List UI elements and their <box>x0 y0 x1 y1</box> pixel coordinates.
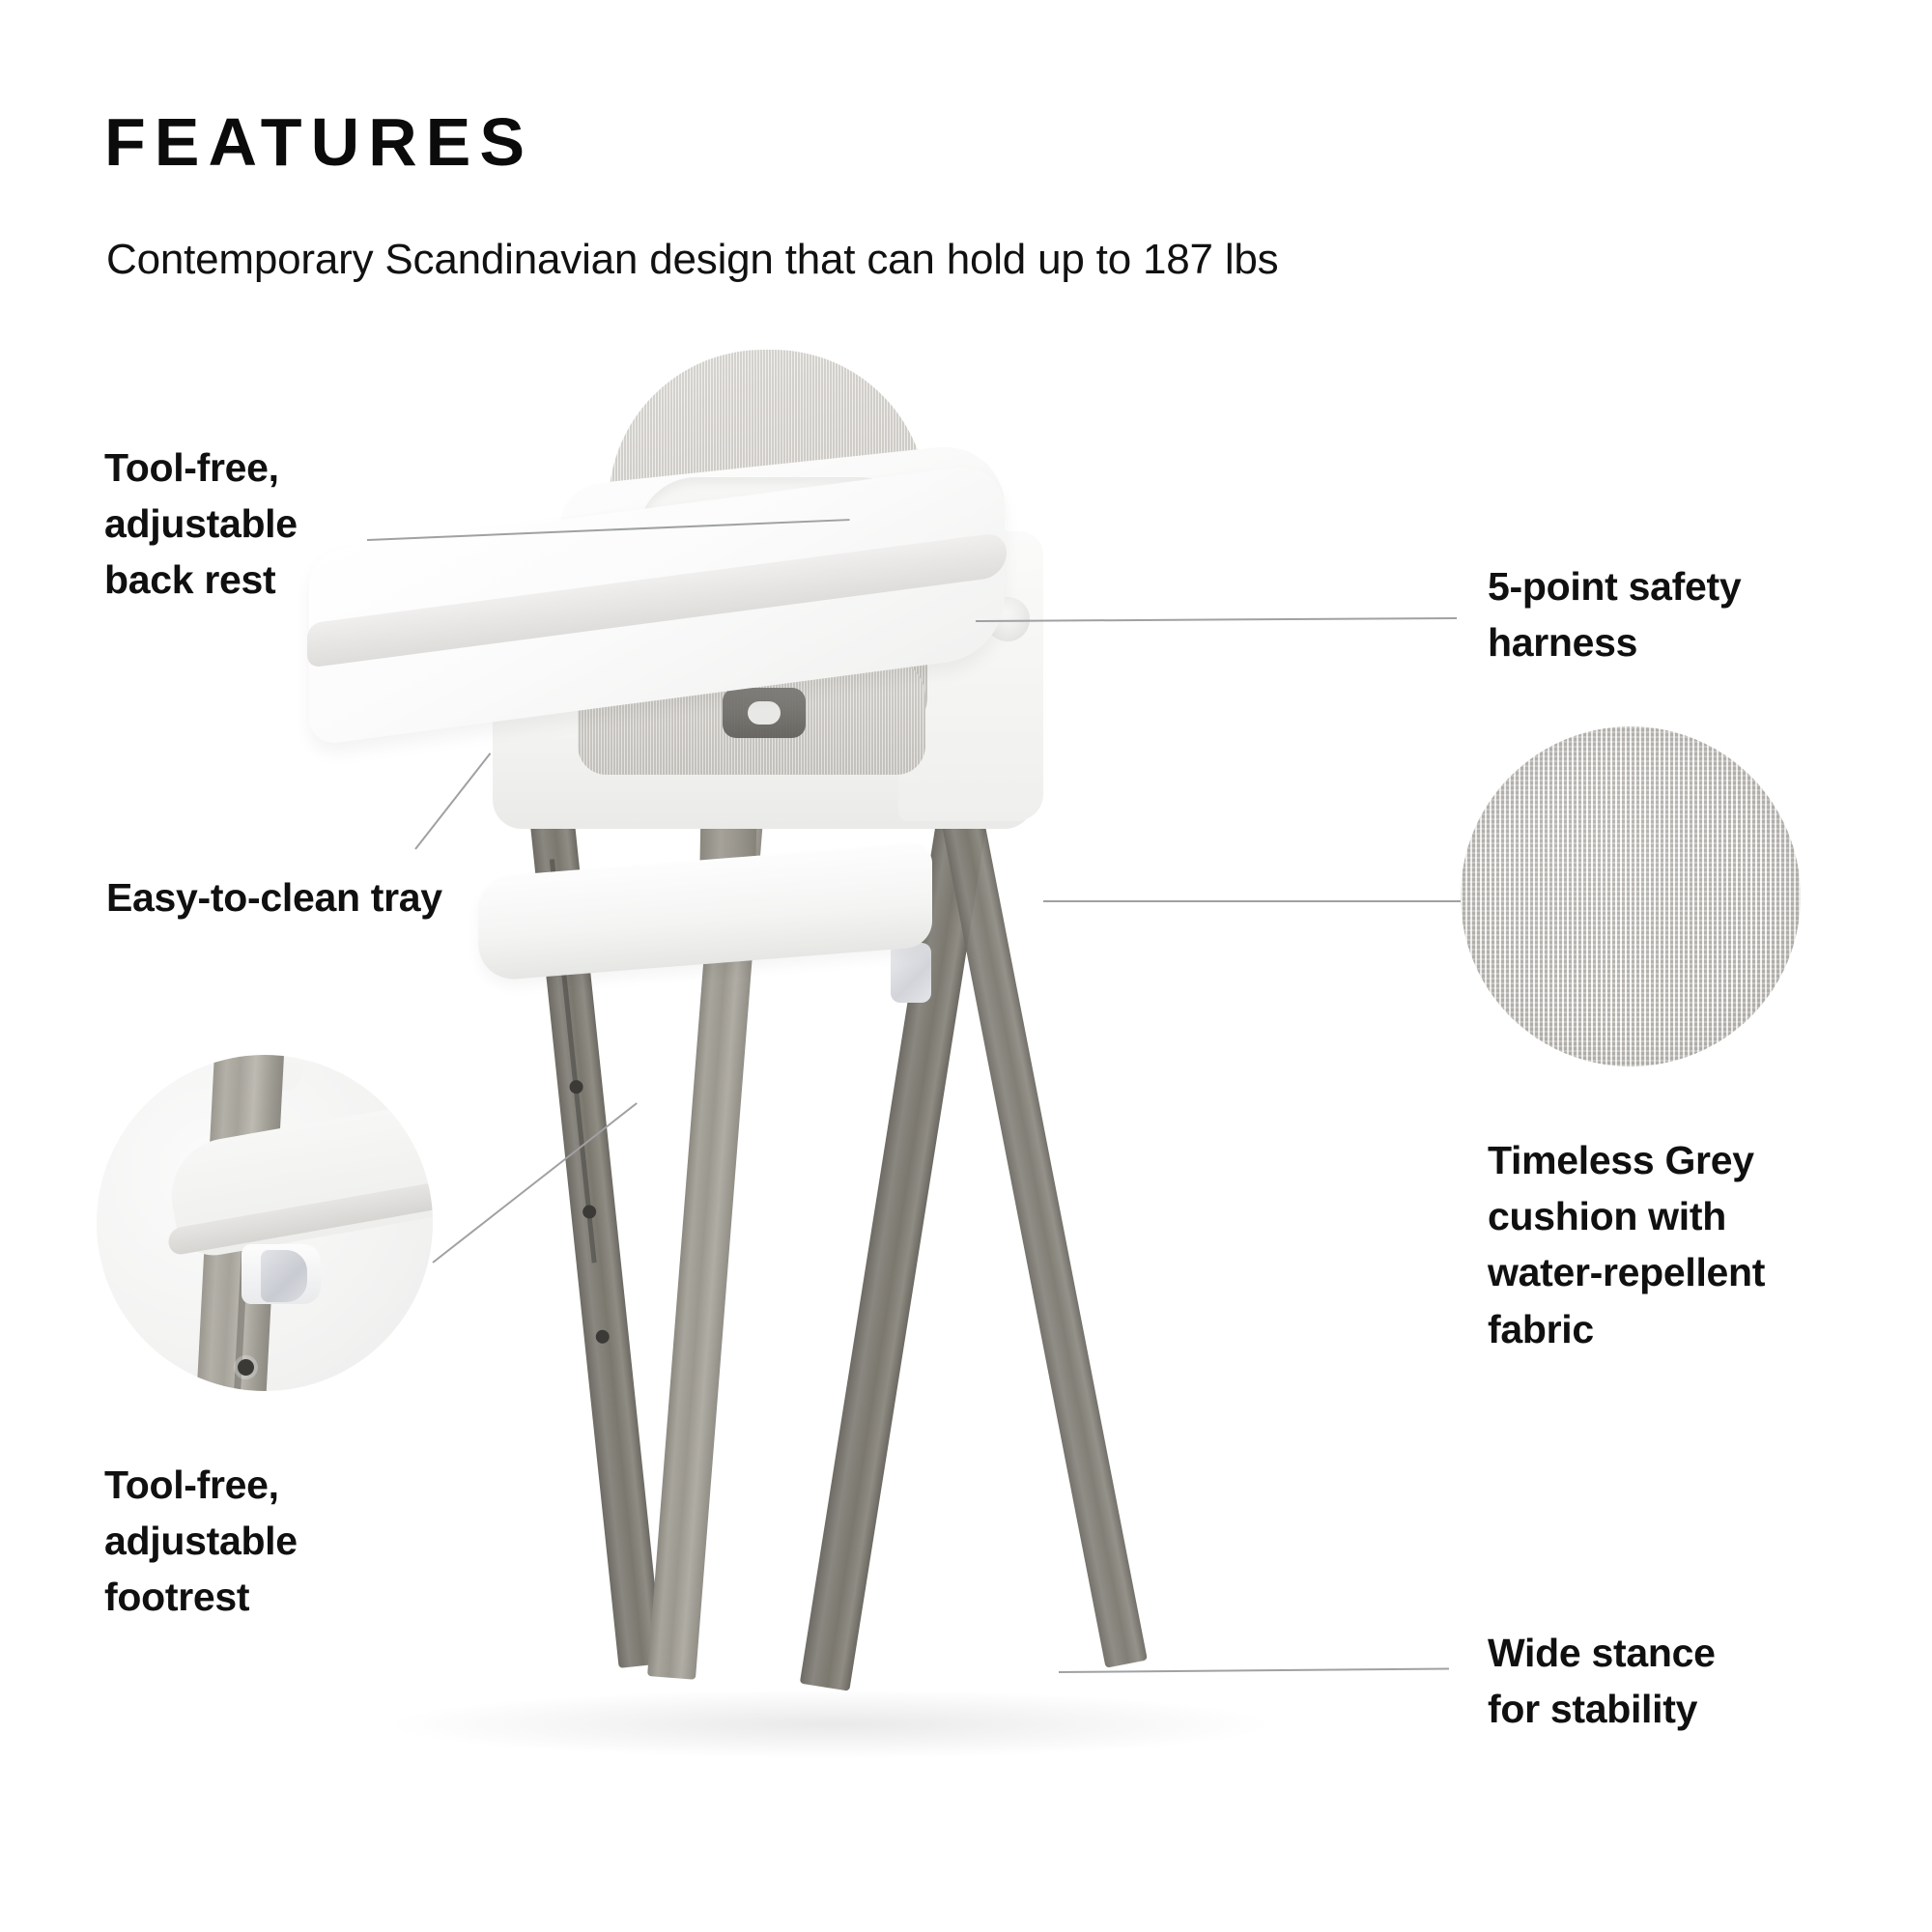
fd-adjust-hole <box>238 1359 254 1376</box>
footrest-detail-circle <box>97 1055 433 1391</box>
floor-shadow <box>396 1690 1265 1758</box>
leader-line-cushion <box>1043 900 1461 902</box>
callout-tray: Easy-to-clean tray <box>106 869 442 925</box>
callout-safety-harness: 5-point safety harness <box>1488 558 1741 670</box>
callout-wide-stance: Wide stance for stability <box>1488 1625 1716 1737</box>
callout-cushion: Timeless Grey cushion with water-repelle… <box>1488 1132 1765 1357</box>
callout-footrest: Tool-free, adjustable footrest <box>104 1457 298 1626</box>
fabric-swatch-detail <box>1461 726 1801 1066</box>
footrest-clip-right <box>891 943 931 1003</box>
harness-center-button <box>748 701 781 724</box>
page-subtitle: Contemporary Scandinavian design that ca… <box>106 237 1278 283</box>
feature-infographic: FEATURES Contemporary Scandinavian desig… <box>0 0 1932 1932</box>
product-illustration <box>319 406 1362 1777</box>
callout-back-rest: Tool-free, adjustable back rest <box>104 440 298 609</box>
fd-clip-knob <box>261 1250 307 1302</box>
page-title: FEATURES <box>104 108 533 176</box>
